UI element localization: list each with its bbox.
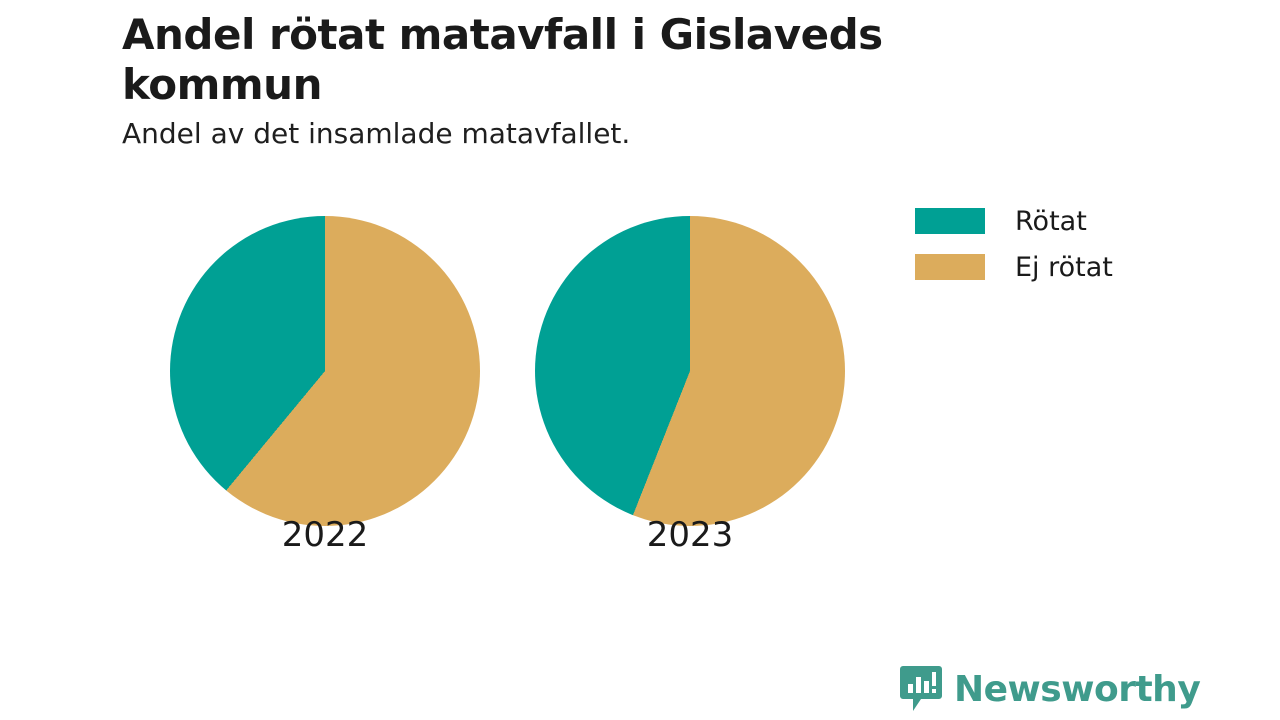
brand-name: Newsworthy — [954, 669, 1200, 710]
newsworthy-brand[interactable]: Newsworthy — [900, 665, 1200, 713]
pie-label-2022: 2022 — [170, 515, 480, 555]
legend-item-rotat[interactable]: Rötat — [915, 198, 1113, 244]
pie-chart-2022 — [170, 216, 480, 526]
page-subtitle: Andel av det insamlade matavfallet. — [122, 117, 1002, 151]
legend-item-ej-rotat[interactable]: Ej rötat — [915, 244, 1113, 290]
newsworthy-logo-icon — [900, 665, 942, 713]
legend-label: Rötat — [1015, 206, 1087, 237]
legend-swatch-icon — [915, 208, 985, 234]
chart-legend: Rötat Ej rötat — [915, 198, 1113, 290]
legend-swatch-icon — [915, 254, 985, 280]
legend-label: Ej rötat — [1015, 252, 1113, 283]
page-title: Andel rötat matavfall i Gislaveds kommun — [122, 10, 1002, 109]
chart-canvas: Andel rötat matavfall i Gislaveds kommun… — [0, 0, 1280, 720]
pie-chart-2023 — [535, 216, 845, 526]
pie-label-2023: 2023 — [535, 515, 845, 555]
